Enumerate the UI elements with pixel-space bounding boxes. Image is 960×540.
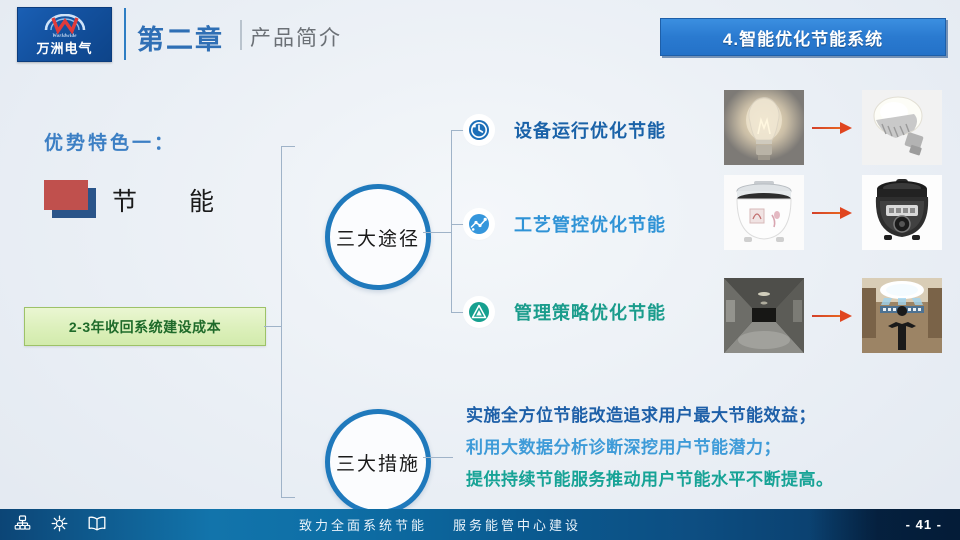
orange-arrow-icon — [812, 121, 854, 135]
measure-line-3: 提供持续节能服务推动用户节能水平不断提高。 — [466, 464, 936, 496]
photo-pair-corridor — [724, 278, 942, 353]
incandescent-bulb-photo — [724, 90, 804, 165]
ways-stub-2 — [451, 224, 467, 225]
footer-slogan-left: 致力全面系统节能 — [299, 515, 427, 534]
footer-bar: 致力全面系统节能 服务能管中心建设 - 41 - — [0, 509, 960, 540]
dark-corridor-photo — [724, 278, 804, 353]
section-title-chip: 4.智能优化节能系统 — [660, 18, 946, 56]
footer-slogan-right: 服务能管中心建设 — [453, 515, 581, 534]
rice-cooker-photo — [724, 175, 804, 250]
payback-callout: 2-3年收回系统建设成本 — [24, 307, 266, 346]
clock-history-icon — [466, 117, 492, 143]
branch-item-strategy[interactable]: 管理策略优化节能 — [466, 299, 666, 325]
measure-line-2: 利用大数据分析诊断深挖用户节能潜力； — [466, 432, 936, 464]
section-title-label: 4.智能优化节能系统 — [723, 25, 883, 50]
data-analysis-icon — [466, 211, 492, 237]
branch-item-equipment[interactable]: 设备运行优化节能 — [466, 117, 666, 143]
advantage-title: 优势特色一： — [44, 128, 176, 155]
logo-company-name: 万洲电气 — [36, 41, 92, 56]
node-three-measures-label: 三大措施 — [336, 449, 420, 476]
square-front — [44, 180, 88, 210]
page-number: - 41 - — [906, 509, 942, 540]
lit-corridor-photo — [862, 278, 942, 353]
branch-label-equipment: 设备运行优化节能 — [514, 117, 666, 143]
node-three-measures[interactable]: 三大措施 — [325, 409, 431, 515]
payback-label: 2-3年收回系统建设成本 — [69, 317, 221, 337]
branch-item-process[interactable]: 工艺管控优化节能 — [466, 211, 666, 237]
branch-label-strategy: 管理策略优化节能 — [514, 299, 666, 325]
footer-slogan: 致力全面系统节能 服务能管中心建设 — [0, 509, 880, 540]
keyword-label: 节 能 — [112, 182, 236, 218]
led-bulb-photo — [862, 90, 942, 165]
logo-sub-text: Worldwide — [52, 34, 77, 40]
node-three-ways[interactable]: 三大途径 — [325, 184, 431, 290]
orange-arrow-icon — [812, 309, 854, 323]
red-square-marker-icon — [44, 180, 96, 220]
photo-pair-cooker — [724, 175, 942, 250]
page-subtitle: 产品简介 — [250, 22, 342, 52]
photo-pair-lighting — [724, 90, 942, 165]
measure-line-1: 实施全方位节能改造追求用户最大节能效益； — [466, 400, 936, 432]
ways-trunk-h — [423, 232, 451, 233]
strategy-triangle-icon — [466, 299, 492, 325]
keyword-row: 节 能 — [44, 180, 236, 220]
node-three-ways-label: 三大途径 — [336, 224, 420, 251]
header-divider — [124, 8, 126, 60]
header-separator — [240, 20, 242, 50]
orange-arrow-icon — [812, 206, 854, 220]
measures-stub — [423, 457, 453, 458]
left-bracket-bottom-stub — [281, 497, 295, 498]
ways-stub-3 — [451, 312, 467, 313]
branch-label-process: 工艺管控优化节能 — [514, 211, 666, 237]
left-bracket-vertical — [281, 146, 282, 497]
ways-stub-1 — [451, 130, 467, 131]
measures-text-block: 实施全方位节能改造追求用户最大节能效益； 利用大数据分析诊断深挖用户节能潜力； … — [466, 400, 936, 496]
electric-pressure-cooker-photo — [862, 175, 942, 250]
left-bracket-top-stub — [281, 146, 295, 147]
slide-canvas: Worldwide 万洲电气 第二章 产品简介 4.智能优化节能系统 优势特色一… — [0, 0, 960, 540]
company-logo: Worldwide 万洲电气 — [17, 7, 112, 62]
left-bracket-green-stub — [264, 326, 282, 327]
chapter-title: 第二章 — [137, 18, 224, 57]
ways-trunk-v — [451, 130, 452, 313]
worldwide-w-emblem-icon — [42, 14, 88, 34]
